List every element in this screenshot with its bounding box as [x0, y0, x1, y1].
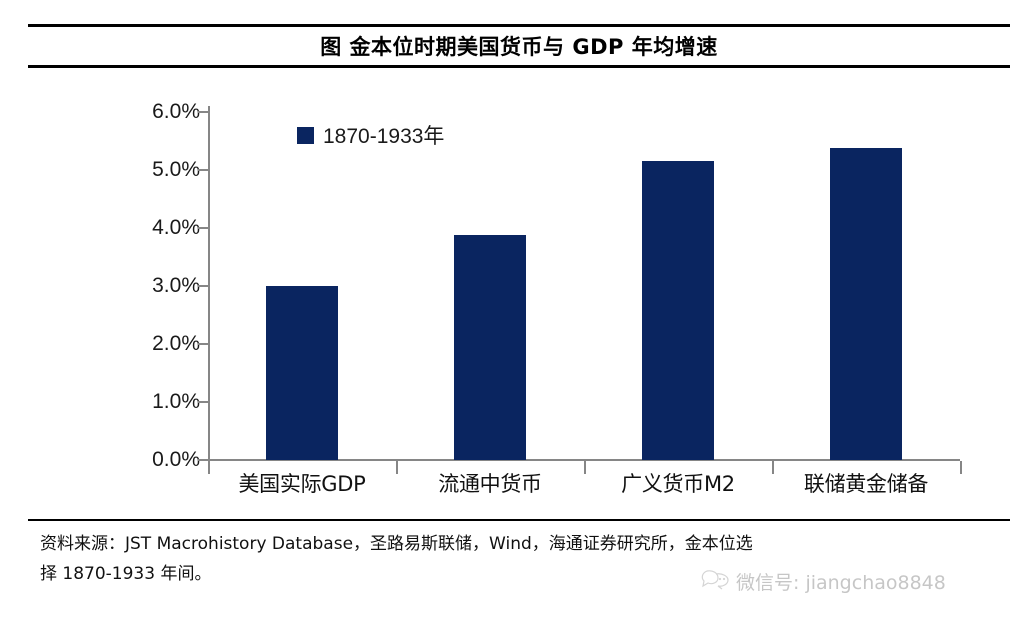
y-tick-mark: [198, 401, 209, 403]
y-tick-mark: [198, 111, 209, 113]
bars-layer: [0, 70, 1036, 510]
bar-2: [454, 235, 526, 460]
chart-legend: 1870-1933年: [297, 120, 444, 150]
y-tick-mark: [198, 343, 209, 345]
chart-canvas: 6.0%5.0%4.0%3.0%2.0%1.0%0.0% 1870-1933年 …: [0, 70, 1036, 510]
y-tick-mark: [198, 285, 209, 287]
x-tick-mark: [960, 461, 962, 474]
x-axis-category-labels: 美国实际GDP流通中货币广义货币M2联储黄金储备: [208, 468, 960, 508]
footer-divider: [28, 519, 1010, 521]
chat-bubble-icon: [700, 568, 730, 595]
legend-color-swatch: [297, 127, 314, 144]
bar-1: [266, 286, 338, 460]
page-title: 图 金本位时期美国货币与 GDP 年均增速: [320, 31, 718, 61]
x-category-label-2: 流通中货币: [396, 468, 584, 508]
bar-3: [642, 161, 714, 460]
y-tick-mark: [198, 227, 209, 229]
x-category-label-1: 美国实际GDP: [208, 468, 396, 508]
source-note-line-1: 资料来源：JST Macrohistory Database，圣路易斯联储，Wi…: [40, 534, 753, 554]
x-category-label-3: 广义货币M2: [584, 468, 772, 508]
legend-label: 1870-1933年: [323, 120, 444, 150]
y-tick-mark: [198, 169, 209, 171]
chart-title-block: 图 金本位时期美国货币与 GDP 年均增速: [28, 24, 1010, 68]
watermark: 微信号: jiangchao8848: [700, 568, 946, 595]
watermark-text: 微信号: jiangchao8848: [736, 568, 946, 595]
bar-4: [830, 148, 902, 460]
x-category-label-4: 联储黄金储备: [772, 468, 960, 508]
